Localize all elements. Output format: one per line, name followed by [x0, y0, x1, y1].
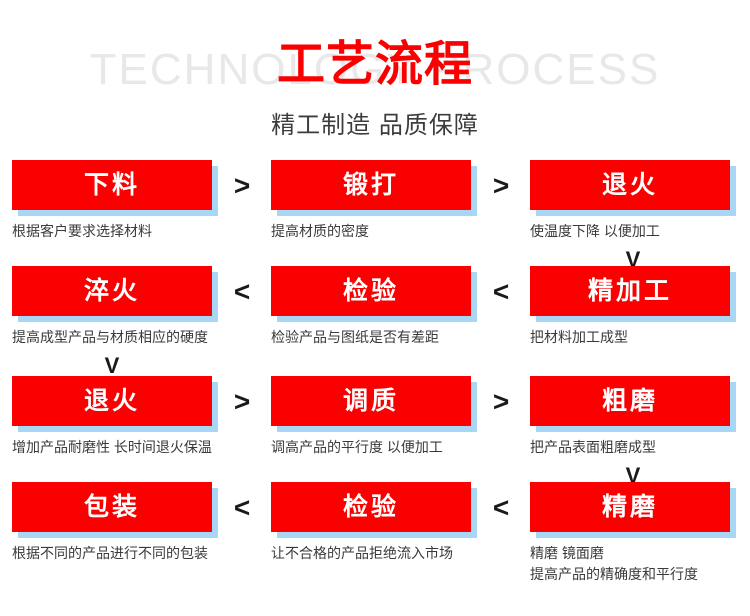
step-description-line2: 提高产品的精确度和平行度 [530, 565, 738, 584]
step-label: 检验 [343, 276, 399, 306]
step-chip[interactable]: 退火 [530, 160, 730, 210]
step-label: 锻打 [343, 170, 399, 200]
flow-step-baozhuang[interactable]: 包装 根据不同的产品进行不同的包装 [12, 482, 220, 563]
step-label: 精加工 [588, 276, 672, 306]
page-subtitle: 精工制造 品质保障 [0, 110, 750, 142]
step-chip[interactable]: 淬火 [12, 266, 212, 316]
step-chip[interactable]: 精加工 [530, 266, 730, 316]
connector-arrow-left-r4c1: < [222, 492, 262, 524]
step-label: 调质 [343, 386, 399, 416]
step-chip[interactable]: 包装 [12, 482, 212, 532]
flow-step-cuihuo[interactable]: 淬火 提高成型产品与材质相应的硬度 [12, 266, 220, 347]
step-description: 根据客户要求选择材料 [12, 222, 220, 241]
flow-step-jianyan-1[interactable]: 检验 检验产品与图纸是否有差距 [271, 266, 479, 347]
flow-row-4: 包装 根据不同的产品进行不同的包装 < 检验 让不合格的产品拒绝流入市场 < 精… [0, 482, 750, 588]
connector-arrow-right-r1c1: > [222, 170, 262, 202]
step-label: 粗磨 [602, 386, 658, 416]
process-flow-diagram: 下料 根据客户要求选择材料 > 锻打 提高材质的密度 > 退火 使温度下降 以便… [0, 150, 750, 616]
step-label: 淬火 [84, 276, 140, 306]
flow-step-tiaozhi[interactable]: 调质 调高产品的平行度 以便加工 [271, 376, 479, 457]
flow-step-jingmo[interactable]: 精磨 精磨 镜面磨 提高产品的精确度和平行度 [530, 482, 738, 584]
flow-step-xiaoliao[interactable]: 下料 根据客户要求选择材料 [12, 160, 220, 241]
step-label: 下料 [84, 170, 140, 200]
step-chip[interactable]: 检验 [271, 482, 471, 532]
step-description: 提高材质的密度 [271, 222, 479, 241]
step-description: 提高成型产品与材质相应的硬度 [12, 328, 220, 347]
flow-step-jingjiagong[interactable]: 精加工 把材料加工成型 [530, 266, 738, 347]
step-label: 退火 [602, 170, 658, 200]
step-label: 包装 [84, 492, 140, 522]
page-header: TECHNOLOGY PROCESS 工艺流程 精工制造 品质保障 [0, 0, 750, 150]
step-description: 把材料加工成型 [530, 328, 738, 347]
step-description: 增加产品耐磨性 长时间退火保温 [12, 438, 220, 457]
flow-step-duanda[interactable]: 锻打 提高材质的密度 [271, 160, 479, 241]
connector-arrow-down-r2: V [92, 354, 132, 378]
connector-arrow-right-r1c2: > [481, 170, 521, 202]
step-description: 根据不同的产品进行不同的包装 [12, 544, 220, 563]
step-chip[interactable]: 精磨 [530, 482, 730, 532]
step-label: 检验 [343, 492, 399, 522]
connector-arrow-right-r3c2: > [481, 386, 521, 418]
flow-step-tuihuo-2[interactable]: 退火 增加产品耐磨性 长时间退火保温 [12, 376, 220, 457]
flow-row-2: 淬火 提高成型产品与材质相应的硬度 < 检验 检验产品与图纸是否有差距 < 精加… [0, 266, 750, 372]
step-chip[interactable]: 退火 [12, 376, 212, 426]
connector-arrow-right-r3c1: > [222, 386, 262, 418]
flow-step-jianyan-2[interactable]: 检验 让不合格的产品拒绝流入市场 [271, 482, 479, 563]
flow-row-1: 下料 根据客户要求选择材料 > 锻打 提高材质的密度 > 退火 使温度下降 以便… [0, 160, 750, 266]
flow-step-tuihuo-1[interactable]: 退火 使温度下降 以便加工 [530, 160, 738, 241]
flow-step-cumo[interactable]: 粗磨 把产品表面粗磨成型 [530, 376, 738, 457]
step-chip[interactable]: 锻打 [271, 160, 471, 210]
step-description: 精磨 镜面磨 [530, 544, 738, 563]
flow-row-3: 退火 增加产品耐磨性 长时间退火保温 > 调质 调高产品的平行度 以便加工 > … [0, 376, 750, 482]
step-description: 让不合格的产品拒绝流入市场 [271, 544, 479, 563]
step-description: 使温度下降 以便加工 [530, 222, 738, 241]
step-chip[interactable]: 粗磨 [530, 376, 730, 426]
step-label: 退火 [84, 386, 140, 416]
step-description: 把产品表面粗磨成型 [530, 438, 738, 457]
step-chip[interactable]: 下料 [12, 160, 212, 210]
step-chip[interactable]: 检验 [271, 266, 471, 316]
page-title: 工艺流程 [0, 36, 750, 94]
connector-arrow-left-r2c1: < [222, 276, 262, 308]
step-label: 精磨 [602, 492, 658, 522]
step-chip[interactable]: 调质 [271, 376, 471, 426]
step-description: 检验产品与图纸是否有差距 [271, 328, 479, 347]
step-description: 调高产品的平行度 以便加工 [271, 438, 479, 457]
connector-arrow-left-r4c2: < [481, 492, 521, 524]
connector-arrow-left-r2c2: < [481, 276, 521, 308]
